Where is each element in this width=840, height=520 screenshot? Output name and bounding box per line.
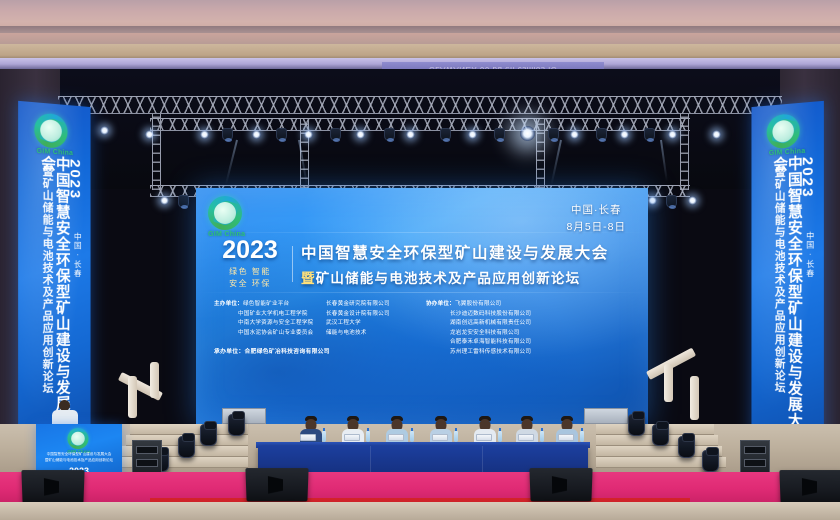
- coorganizer-label: 协办单位：: [426, 301, 455, 307]
- undertaker-label: 承办单位：: [214, 349, 245, 355]
- truss-vertical-left: [152, 114, 161, 190]
- stage-lamp: [712, 130, 721, 139]
- water-bottle: [366, 431, 370, 442]
- main-led-screen: GIM China 中国·长春 8月5日-8日 2023 绿色 智能 安全 环保…: [196, 188, 648, 424]
- water-bottle: [454, 431, 458, 442]
- host-column-2: 长春黄金研究院有限公司 长春黄金设计院有限公司 武汉工程大学 储能与电池技术: [326, 300, 418, 358]
- host-item: 中南大学资源与安全工程学院: [214, 319, 318, 329]
- name-card: [558, 434, 574, 441]
- stage-lamp-lower: [688, 196, 697, 205]
- gim-logo-mark: GIM China: [34, 112, 75, 157]
- event-year: 2023: [216, 238, 284, 263]
- moving-head-light-lower: [666, 195, 677, 208]
- left-banner-subtitle: 暨矿山储能与电池技术及产品应用创新论坛: [41, 165, 52, 447]
- moving-head-light-lower: [178, 195, 189, 208]
- floor-moving-light: [228, 414, 245, 436]
- moving-head-light: [548, 128, 559, 141]
- floor-moving-light: [200, 424, 217, 446]
- stage-lamp: [570, 130, 579, 139]
- name-card: [518, 434, 534, 441]
- event-title-sub: 矿山储能与电池技术及产品应用创新论坛: [316, 271, 581, 286]
- moving-head-light: [596, 128, 607, 141]
- floor-moving-light: [178, 436, 195, 458]
- event-dates: 8月5日-8日: [566, 219, 626, 236]
- stage-lamp: [200, 130, 209, 139]
- title-divider: [292, 246, 293, 282]
- coorganizer-column: 协办单位：飞翼股份有限公司 长沙迪迈数码科技股份有限公司 湖南创远高新机械有限责…: [426, 300, 556, 358]
- host-item: 长春黄金研究院有限公司: [326, 300, 418, 310]
- event-location: 中国·长春: [566, 202, 626, 219]
- stage-lamp: [145, 130, 154, 139]
- coorganizer-item: 湖南创远高新机械有限责任公司: [426, 319, 556, 329]
- coorganizer-item: 苏州理工雷科传感技术有限公司: [426, 348, 556, 358]
- water-bottle: [322, 431, 326, 442]
- left-balustrade-post: [128, 376, 137, 418]
- stage-lamp: [668, 130, 677, 139]
- stage-lamp-bright: [520, 126, 535, 141]
- event-location-date: 中国·长春 8月5日-8日: [566, 202, 626, 237]
- stage-lamp-lower: [648, 196, 657, 205]
- event-title-sub-prefix: 暨: [301, 271, 316, 286]
- floor-moving-light: [628, 414, 645, 436]
- led-screen-stand-right: [584, 408, 628, 424]
- left-banner-logo: GIM China: [34, 112, 75, 157]
- water-bottle: [498, 431, 502, 442]
- right-banner-subtitle: 暨矿山储能与电池技术及产品应用创新论坛: [773, 166, 784, 446]
- moving-head-light: [384, 128, 395, 141]
- conference-stage-scene: CLAWANEX 00 bd en cslillos IC: [0, 0, 840, 520]
- event-title-main: 中国智慧安全环保型矿山建设与发展大会: [301, 241, 628, 263]
- name-card: [300, 434, 316, 441]
- right-vertical-banner: GIM China 2023 中国·长春 中国智慧安全环保型矿山建设与发展大会 …: [751, 101, 823, 447]
- podium-title-2: 暨矿山储能与电池技术及产品应用创新论坛: [39, 458, 119, 463]
- truss-vertical-right: [680, 114, 689, 190]
- moving-head-light: [222, 128, 233, 141]
- water-bottle: [540, 431, 544, 442]
- moving-head-light: [494, 128, 505, 141]
- ceiling-beam: [0, 26, 840, 33]
- stage-lamp: [406, 130, 415, 139]
- gim-logo-mark: GIM China: [208, 196, 245, 238]
- stage-lamp-lower: [160, 196, 169, 205]
- screen-logo: GIM China: [208, 196, 245, 238]
- gim-logo-mark: GIM China: [67, 428, 90, 454]
- right-balustrade-post: [690, 376, 699, 420]
- equipment-rack: [132, 440, 162, 476]
- right-balustrade-post: [664, 364, 673, 402]
- stage-monitor-speaker: [245, 468, 308, 501]
- floor-moving-light: [702, 450, 719, 472]
- stage-lamp: [468, 130, 477, 139]
- host-item: 中国矿业大学机电工程学院: [214, 310, 318, 320]
- water-bottle: [580, 431, 584, 442]
- host-item: 中国水泥协会矿山专业委员会: [214, 329, 318, 339]
- right-banner-logo: GIM China: [767, 112, 808, 157]
- right-banner-location: 中国·长春: [806, 231, 814, 447]
- moving-head-light: [644, 128, 655, 141]
- event-title-sub-row: 暨矿山储能与电池技术及产品应用创新论坛: [301, 267, 628, 287]
- moving-head-light: [276, 128, 287, 141]
- coorganizer-item: 长沙迪迈数码科技股份有限公司: [426, 310, 556, 320]
- undertaker-name: 合肥绿色矿冶科技咨询有限公司: [245, 349, 330, 355]
- stage-lamp: [252, 130, 261, 139]
- main-truss: [58, 96, 782, 114]
- left-vertical-banner: GIM China 2023 中国·长春 中国智慧安全环保型矿山建设与发展大会 …: [18, 101, 90, 447]
- coorganizer-item: 龙岩龙安安全科技有限公司: [426, 329, 556, 339]
- left-balustrade-post: [150, 362, 159, 398]
- moving-head-light: [440, 128, 451, 141]
- name-card: [344, 434, 360, 441]
- event-slogan: 绿色 智能 安全 环保: [216, 266, 284, 291]
- slogan-line-2: 安全 环保: [216, 278, 284, 290]
- floor-moving-light: [652, 424, 669, 446]
- gim-logo-mark: GIM China: [767, 112, 808, 157]
- name-card: [388, 434, 404, 441]
- truss-vertical-mid-right: [536, 118, 545, 188]
- stage-front-ledge: [0, 502, 840, 520]
- water-bottle: [410, 431, 414, 442]
- stage-monitor-speaker: [529, 468, 592, 501]
- coorganizer-item: 飞翼股份有限公司: [455, 301, 501, 307]
- podium-logo: GIM China: [67, 428, 90, 454]
- host-label: 主办单位：: [214, 301, 243, 307]
- host-item: 长春黄金设计院有限公司: [326, 310, 418, 320]
- stage-lamp: [356, 130, 365, 139]
- coorganizer-item: 合肥泰禾卓海智能科技有限公司: [426, 338, 556, 348]
- undertaker-row: 承办单位：合肥绿色矿冶科技咨询有限公司: [214, 346, 330, 355]
- podium-title-1: 中国智慧安全环保型矿山建设与发展大会: [39, 452, 119, 457]
- name-card: [476, 434, 492, 441]
- floor-moving-light: [678, 436, 695, 458]
- slogan-line-1: 绿色 智能: [216, 266, 284, 278]
- stage-lamp: [304, 130, 313, 139]
- host-item: 绿色智能矿业平台: [243, 301, 289, 307]
- stage-lamp: [620, 130, 629, 139]
- stage-lamp: [100, 126, 109, 135]
- moving-head-light: [330, 128, 341, 141]
- name-card: [432, 434, 448, 441]
- equipment-rack: [740, 440, 770, 476]
- year-block: 2023 绿色 智能 安全 环保: [216, 238, 284, 291]
- host-item: 储能与电池技术: [326, 329, 418, 339]
- stage-monitor-speaker: [21, 470, 84, 503]
- host-item: 武汉工程大学: [326, 319, 418, 329]
- screen-title-block: 2023 绿色 智能 安全 环保 中国智慧安全环保型矿山建设与发展大会 暨矿山储…: [216, 238, 628, 291]
- stage-monitor-speaker: [779, 470, 840, 503]
